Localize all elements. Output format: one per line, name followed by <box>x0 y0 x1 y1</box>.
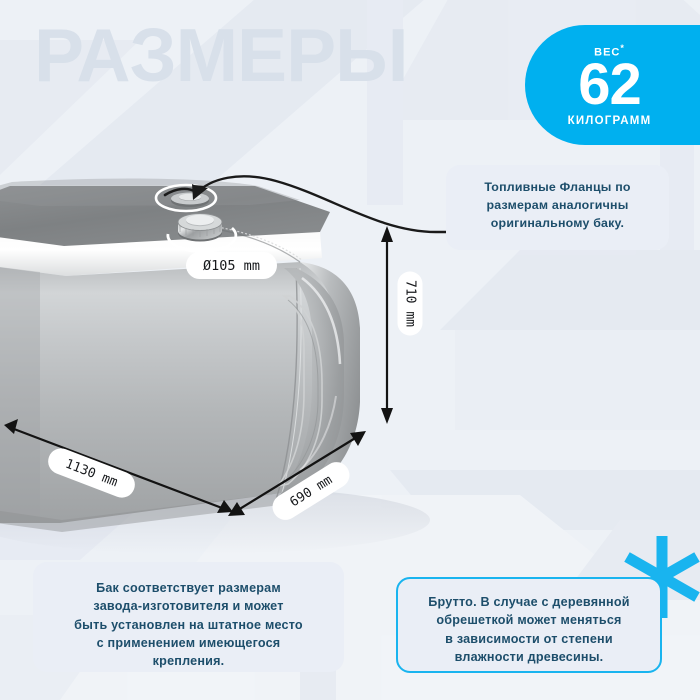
weight-badge: ВЕС* 62 КИЛОГРАММ <box>525 25 700 145</box>
note-line: Топливные Фланцы по <box>456 179 659 197</box>
note-line: размерам аналогичны <box>456 197 659 215</box>
fuel-flange-rear <box>171 193 209 208</box>
note-line: в зависимости от степени <box>408 630 650 648</box>
dimension-label-height: 710 mm <box>398 272 423 336</box>
note-gross-weight: Брутто. В случае с деревянной обрешеткой… <box>396 577 662 673</box>
infographic-canvas: РАЗМЕРЫ ВЕС* 62 КИЛОГРАММ Топливные Флан… <box>0 0 700 700</box>
weight-badge-unit: КИЛОГРАММ <box>568 115 652 127</box>
note-line: завода-изготовителя и может <box>43 597 334 615</box>
note-line: крепления. <box>43 652 334 670</box>
weight-badge-value: 62 <box>578 57 641 114</box>
note-line: обрешеткой может меняться <box>408 611 650 629</box>
note-line: влажности древесины. <box>408 648 650 666</box>
note-line: оригинальному баку. <box>456 215 659 233</box>
dimension-label-diameter: Ø105 mm <box>186 252 277 279</box>
page-title: РАЗМЕРЫ <box>34 18 408 93</box>
note-line: с применением имеющегося <box>43 634 334 652</box>
note-line: Брутто. В случае с деревянной <box>408 593 650 611</box>
note-line: Бак соответствует размерам <box>43 579 334 597</box>
note-mounting: Бак соответствует размерам завода-изгото… <box>33 562 344 672</box>
note-fuel-flanges: Топливные Фланцы по размерам аналогичны … <box>446 165 669 250</box>
fuel-flange-front <box>178 214 222 242</box>
note-line: быть установлен на штатное место <box>43 616 334 634</box>
